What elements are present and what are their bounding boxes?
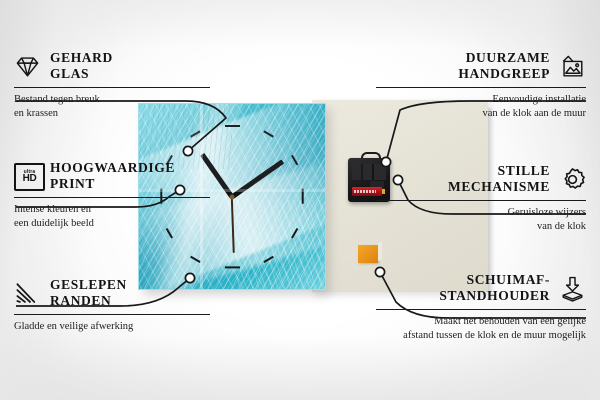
feature-desc-line2: van de klok — [376, 220, 586, 233]
feature-divider — [376, 200, 586, 201]
feature-divider — [14, 197, 210, 198]
diamond-icon — [14, 53, 41, 80]
feature-geslepen-randen: GESLEPEN RANDEN Gladde en veilige afwerk… — [14, 277, 224, 334]
feature-duurzame-handgreep: DUURZAME HANDGREEP Eenvoudige installati… — [376, 50, 586, 120]
feature-hoogwaardige-print: ultra HD HOOGWAARDIGE PRINT Intense kleu… — [14, 160, 224, 230]
feature-title-line1: GEHARD — [50, 50, 113, 66]
feature-desc-line1: Gladde en veilige afwerking — [14, 320, 224, 333]
feature-desc-line2: en krassen — [14, 107, 224, 120]
feature-title-line2: RANDEN — [50, 293, 127, 309]
feature-title-line2: PRINT — [50, 176, 175, 192]
feature-title-line2: MECHANISME — [448, 179, 550, 195]
infographic-canvas: GEHARD GLAS Bestand tegen breuk en krass… — [0, 0, 600, 400]
feature-title-line1: SCHUIMAF- — [439, 272, 550, 288]
feature-desc-line1: Geruisloze wijzers — [376, 206, 586, 219]
feature-stille-mechanisme: STILLE MECHANISME Geruisloze wijzers van… — [376, 163, 586, 233]
press-down-icon — [559, 275, 586, 302]
feature-schuimafstandhouder: SCHUIMAF- STANDHOUDER Maakt het behouden… — [376, 272, 586, 342]
feature-title-line1: HOOGWAARDIGE — [50, 160, 175, 176]
feature-title-line1: DUURZAME — [458, 50, 550, 66]
feature-desc-line2: afstand tussen de klok en de muur mogeli… — [376, 329, 586, 342]
feature-title-line2: HANDGREEP — [458, 66, 550, 82]
feature-divider — [376, 309, 586, 310]
picture-frame-icon — [559, 53, 586, 80]
beveled-edges-icon — [14, 280, 41, 307]
feature-desc-line1: Intense kleuren en — [14, 203, 224, 216]
foam-spacer — [358, 245, 378, 263]
gear-icon — [559, 166, 586, 193]
feature-desc-line2: een duidelijk beeld — [14, 217, 224, 230]
feature-title-line2: STANDHOUDER — [439, 288, 550, 304]
feature-desc-line2: van de klok aan de muur — [376, 107, 586, 120]
feature-divider — [376, 87, 586, 88]
feature-divider — [14, 87, 210, 88]
feature-desc-line1: Maakt het behouden van een gelijke — [376, 315, 586, 328]
ultra-hd-icon-bottom-text: HD — [23, 174, 37, 184]
clock-center-pin — [230, 194, 235, 199]
feature-gehard-glas: GEHARD GLAS Bestand tegen breuk en krass… — [14, 50, 224, 120]
ultra-hd-icon: ultra HD — [14, 163, 41, 190]
feature-title-line1: GESLEPEN — [50, 277, 127, 293]
feature-desc-line1: Eenvoudige installatie — [376, 93, 586, 106]
feature-title-line2: GLAS — [50, 66, 113, 82]
feature-desc-line1: Bestand tegen breuk — [14, 93, 224, 106]
feature-title-line1: STILLE — [448, 163, 550, 179]
feature-divider — [14, 314, 210, 315]
